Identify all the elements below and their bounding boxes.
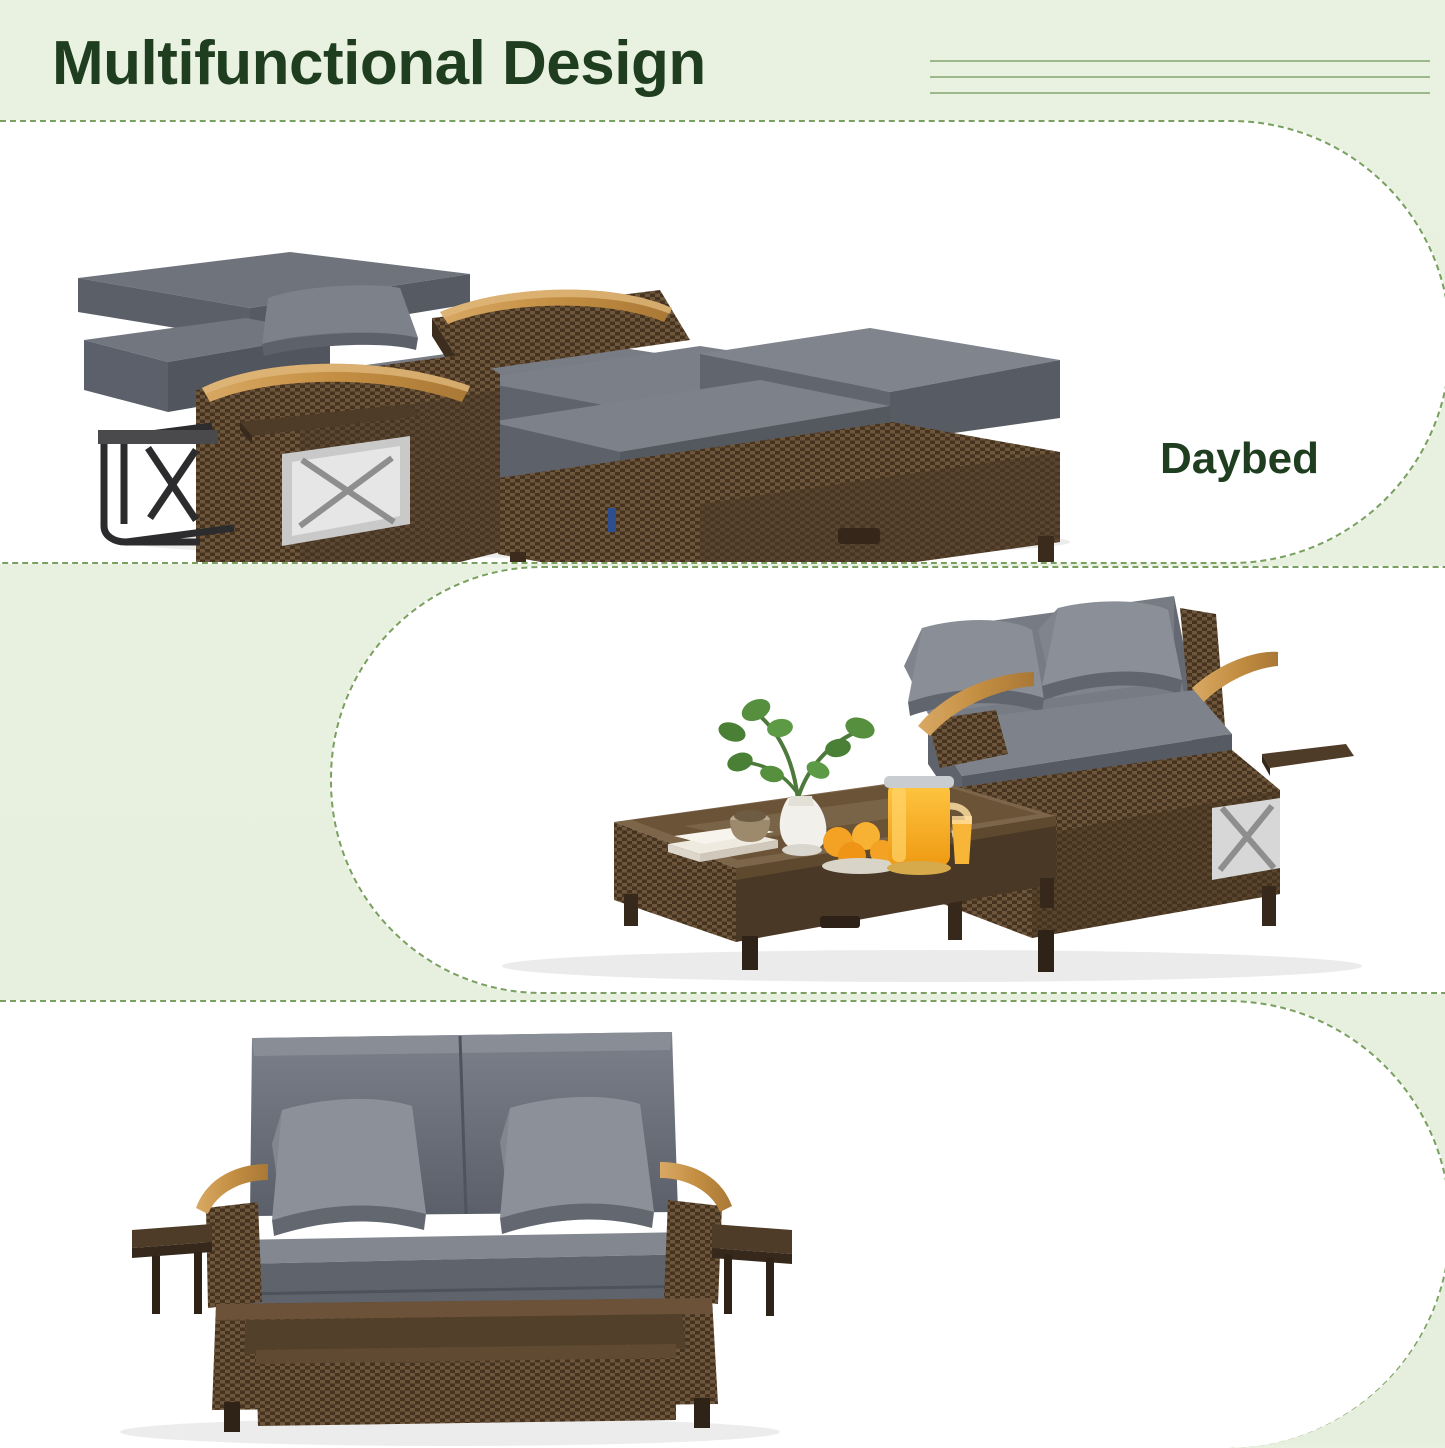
potted-plant <box>716 695 878 800</box>
coffee-table-handle <box>820 916 860 928</box>
loveseat-armrest-left-wicker <box>206 1202 262 1308</box>
loveseat-side-tray <box>1262 744 1354 768</box>
title-rule-2 <box>930 76 1430 78</box>
page-title: Multifunctional Design <box>52 28 706 99</box>
coffee-table-unit <box>614 778 1056 970</box>
loveseat-side-tray-left <box>132 1224 212 1314</box>
caption-daybed: Daybed <box>1160 430 1319 488</box>
panel-daybed: Daybed <box>0 120 1445 564</box>
loveseat-leg-front-left <box>948 898 962 940</box>
loveseat-unit <box>904 596 1354 972</box>
panel-cushioned-loveseat: Cushioned Loveseat <box>0 1000 1445 1448</box>
loveseat-pullout-drawer <box>244 1314 686 1426</box>
loveseat-leg-left <box>224 1402 240 1432</box>
daybed-throw-pillow <box>262 285 418 356</box>
panel-loveseat-coffee-table: Loveseat & Coffee Table Set <box>330 566 1445 994</box>
title-decorative-rules <box>930 52 1430 112</box>
daybed-pullout-rail <box>98 430 218 444</box>
juice-glass <box>952 816 972 864</box>
loveseat-throw-pillow-left <box>272 1099 426 1236</box>
loveseat-throw-pillow-right <box>500 1097 654 1234</box>
loveseat-side-tray-right <box>712 1224 792 1316</box>
title-rule-1 <box>930 60 1430 62</box>
loveseat-throw-pillow-right <box>1038 601 1182 700</box>
small-jar <box>730 810 770 842</box>
loveseat-leg-back-right <box>1262 886 1276 926</box>
loveseat-coffee-table-product-photo <box>332 568 1445 992</box>
cushioned-loveseat-product-photo <box>0 1002 1445 1448</box>
loveseat-leg-front-right <box>1038 930 1054 972</box>
daybed-label-tag <box>608 508 616 532</box>
loveseat-leg-right <box>694 1398 710 1428</box>
daybed-product-photo <box>0 122 1445 562</box>
infographic-page: Multifunctional Design <box>0 0 1445 1445</box>
title-rule-3 <box>930 92 1430 94</box>
